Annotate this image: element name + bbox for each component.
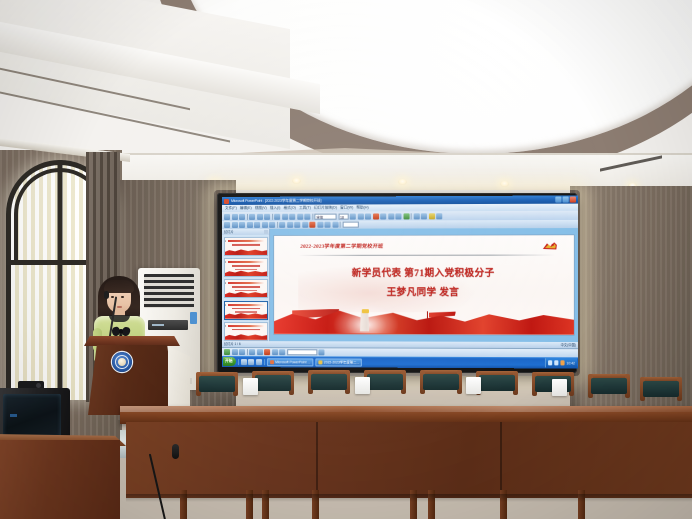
conference-chair <box>364 370 406 396</box>
thumbnail-body-line <box>232 286 260 288</box>
podium-side-panel <box>168 346 190 412</box>
chair-back <box>643 381 679 397</box>
arrow-icon[interactable] <box>247 222 253 228</box>
ie-icon[interactable] <box>248 359 254 365</box>
insert-table-icon[interactable] <box>421 213 427 219</box>
thumbnail-title-line <box>228 282 264 284</box>
name-placard <box>552 379 567 396</box>
slide-artwork <box>274 301 574 335</box>
conference-room-photo: Microsoft PowerPoint - [2022-2023学年度第二学期… <box>0 0 692 519</box>
window-title: Microsoft PowerPoint - [2022-2023学年度第二学期… <box>231 197 527 204</box>
thumbnail-list[interactable]: 1 2 <box>222 235 269 341</box>
save-icon[interactable] <box>239 213 245 219</box>
taskbar-item-folder[interactable]: 2022-2023学年度第二... <box>315 358 362 366</box>
clipart-icon[interactable] <box>302 222 308 228</box>
powerpoint-icon <box>270 360 274 364</box>
taskbar-clock: 10:42 <box>566 361 575 365</box>
font-name-box[interactable]: 宋体 <box>314 213 336 219</box>
bow-knot <box>119 329 123 334</box>
screen-surface[interactable]: Microsoft PowerPoint - [2022-2023学年度第二学期… <box>222 195 578 368</box>
align-left-icon[interactable] <box>380 213 386 219</box>
copy-icon[interactable] <box>282 213 288 219</box>
conference-chair <box>588 374 630 400</box>
transition-icon[interactable] <box>272 349 278 355</box>
powerpoint-icon <box>224 198 229 203</box>
table-shadow <box>126 494 692 502</box>
rectangle-icon[interactable] <box>254 222 260 228</box>
design-icon[interactable] <box>428 213 434 219</box>
insert-picture-icon[interactable] <box>294 222 300 228</box>
menu-item-tools[interactable]: 工具(T) <box>299 206 311 211</box>
toolbar-separator <box>247 349 248 355</box>
emblem-core <box>118 358 126 366</box>
close-icon[interactable] <box>264 230 268 234</box>
show-desktop-icon[interactable] <box>241 359 247 365</box>
ceiling-downlight <box>292 178 301 184</box>
increase-font-icon[interactable] <box>403 213 409 219</box>
thumbnail-number: 1 <box>224 239 226 243</box>
spellcheck-icon[interactable] <box>264 213 270 219</box>
thumbnail-number: 5 <box>224 324 226 328</box>
slide-title-line-2: 王梦凡同学 发言 <box>274 284 574 298</box>
ac-control-panel[interactable] <box>148 320 188 330</box>
input-method-icon[interactable] <box>560 361 565 366</box>
print-preview-icon[interactable] <box>257 213 263 219</box>
media-player-icon[interactable] <box>256 359 262 365</box>
table-sheen <box>120 406 692 412</box>
windows-taskbar[interactable]: 开始 Microsoft PowerPoint ... 2022-2023学年度… <box>222 356 578 369</box>
rehearse-icon[interactable] <box>279 349 285 355</box>
underline-icon[interactable] <box>365 213 371 219</box>
volume-icon[interactable] <box>548 361 553 366</box>
taskbar-item-label: 2022-2023学年度第二... <box>324 358 359 366</box>
select-objects-icon[interactable] <box>224 222 230 228</box>
system-tray[interactable]: 10:42 <box>545 358 577 367</box>
folder-icon <box>318 360 322 364</box>
menu-item-view[interactable]: 视图(V) <box>255 206 267 211</box>
grid-icon[interactable] <box>249 349 255 355</box>
ac-grille <box>144 274 194 308</box>
thumbnail-number: 4 <box>224 303 226 307</box>
thumbnail-title-line <box>228 261 264 263</box>
new-slide-icon[interactable] <box>436 213 442 219</box>
fill-color-icon[interactable] <box>309 222 315 228</box>
line-icon[interactable] <box>239 222 245 228</box>
shadow-icon[interactable] <box>324 222 330 228</box>
podium-front-panel <box>88 345 176 415</box>
thumbnail-title-line <box>228 240 264 242</box>
crt-indicator <box>10 414 17 417</box>
window-controls[interactable] <box>555 196 576 202</box>
thumbnail-number: 3 <box>224 281 226 285</box>
chair-back <box>423 374 459 390</box>
ceiling-downlight <box>398 179 407 185</box>
chair-back <box>311 374 347 390</box>
powerpoint-window[interactable]: Microsoft PowerPoint - [2022-2023学年度第二学期… <box>222 195 578 368</box>
slide-thumbnail-selected[interactable]: 4 <box>224 301 268 320</box>
emblem-ring <box>115 355 129 369</box>
chair-back <box>591 378 627 394</box>
menu-item-insert[interactable]: 插入(I) <box>270 206 281 211</box>
slide-thumbnail[interactable]: 2 <box>224 258 268 277</box>
new-icon[interactable] <box>224 213 230 219</box>
name-placard <box>355 377 370 394</box>
chair-back <box>255 375 291 391</box>
redo-icon[interactable] <box>304 213 310 219</box>
diagram-icon[interactable] <box>287 222 293 228</box>
school-emblem <box>112 352 132 372</box>
podium-top <box>84 336 180 346</box>
thumbnail-body-line <box>232 265 260 267</box>
menu-item-help[interactable]: 帮助(H) <box>356 205 368 210</box>
quick-launch-bar[interactable] <box>238 359 265 365</box>
print-icon[interactable] <box>249 213 255 219</box>
bullets-icon[interactable] <box>395 213 401 219</box>
menu-item-file[interactable]: 文件(F) <box>225 206 237 211</box>
conference-chair <box>640 377 682 403</box>
toolbar-separator <box>312 213 313 219</box>
toolbar-separator <box>340 222 341 228</box>
conference-table-front <box>126 422 692 498</box>
monument-torch <box>362 309 370 314</box>
wordart-icon[interactable] <box>279 222 285 228</box>
toolbar-separator <box>277 222 278 228</box>
thumbnail-body-line <box>235 269 257 271</box>
oval-icon[interactable] <box>262 222 268 228</box>
thumbnail-red-artwork <box>225 333 267 340</box>
textbox-icon[interactable] <box>269 222 275 228</box>
normal-view-icon[interactable] <box>231 349 237 355</box>
autoshapes-icon[interactable] <box>231 222 237 228</box>
line-color-icon[interactable] <box>317 222 323 228</box>
open-icon[interactable] <box>231 213 237 219</box>
thumbnail-red-artwork <box>225 248 267 255</box>
slide-thumbnail-pane[interactable]: 幻灯片 1 2 <box>222 229 270 341</box>
podium-microphone-head <box>104 291 109 299</box>
minimize-button[interactable] <box>555 197 561 203</box>
align-center-icon[interactable] <box>388 213 394 219</box>
table-panel-seam <box>500 422 502 498</box>
thumbnail-body-line <box>232 308 260 310</box>
go-icon[interactable] <box>318 349 324 355</box>
slide-thumbnail[interactable]: 1 <box>224 237 268 256</box>
thumbnail-title-line <box>228 304 264 306</box>
table-microphone-head <box>172 444 179 459</box>
close-button[interactable] <box>570 196 576 202</box>
slide-thumbnail[interactable]: 3 <box>224 279 268 298</box>
led-video-wall: Microsoft PowerPoint - [2022-2023学年度第二学期… <box>217 193 577 373</box>
menu-item-window[interactable]: 窗口(W) <box>340 205 353 210</box>
control-desk-front <box>0 440 120 519</box>
network-icon[interactable] <box>554 361 559 366</box>
red-wave-graphic <box>274 301 574 335</box>
chair-back <box>199 376 235 392</box>
podium <box>84 336 180 416</box>
ac-display-icon <box>152 324 164 326</box>
thumbnail-number: 2 <box>224 260 226 264</box>
toolbar-separator <box>272 213 273 219</box>
italic-icon[interactable] <box>357 213 363 219</box>
thumbnail-body-line <box>235 290 257 292</box>
party-emblem-icon <box>541 240 559 251</box>
three-d-icon[interactable] <box>332 222 338 228</box>
slide-header-rule <box>298 254 556 255</box>
bold-icon[interactable] <box>350 213 356 219</box>
insert-chart-icon[interactable] <box>413 213 419 219</box>
toolbar-separator <box>247 213 248 219</box>
slide-canvas-area[interactable]: 2022-2023学年度第二学期党校开班 新学员代表 第71期入党积极分子 王梦… <box>270 228 578 342</box>
current-slide[interactable]: 2022-2023学年度第二学期党校开班 新学员代表 第71期入党积极分子 王梦… <box>274 235 574 334</box>
thumbnail-body-line <box>232 244 260 246</box>
conference-chair <box>196 372 238 398</box>
paste-icon[interactable] <box>289 213 295 219</box>
slide-thumbnail[interactable]: 5 <box>224 322 268 341</box>
font-color-icon[interactable] <box>373 213 379 219</box>
thumbnail-title-line <box>228 325 264 327</box>
align-objects-icon[interactable] <box>257 349 263 355</box>
start-button[interactable]: 开始 <box>223 357 236 366</box>
taskbar-item-label: Microsoft PowerPoint ... <box>275 358 310 366</box>
chair-back <box>367 374 403 390</box>
slide-title-line-1: 新学员代表 第71期入党积极分子 <box>274 265 574 279</box>
font-size-box[interactable]: 18 <box>338 213 348 219</box>
sorter-view-icon[interactable] <box>239 349 245 355</box>
ac-brand-badge <box>190 312 197 324</box>
address-box[interactable] <box>287 349 317 355</box>
editor-body: 幻灯片 1 2 <box>222 228 578 342</box>
menu-item-format[interactable]: 格式(O) <box>283 206 295 211</box>
undo-icon[interactable] <box>297 213 303 219</box>
name-placard <box>466 377 481 394</box>
animation-icon[interactable] <box>264 349 270 355</box>
taskbar-item-powerpoint[interactable]: Microsoft PowerPoint ... <box>267 358 314 366</box>
menu-item-slideshow[interactable]: 幻灯片放映(D) <box>314 206 337 211</box>
conference-chair <box>476 371 518 397</box>
menu-item-edit[interactable]: 编辑(E) <box>240 206 252 211</box>
mouth <box>117 306 122 308</box>
conference-chair <box>308 370 350 396</box>
cut-icon[interactable] <box>274 213 280 219</box>
name-placard <box>243 378 258 395</box>
thumbnail-body-line <box>235 311 257 313</box>
ceiling-downlight <box>500 181 509 187</box>
slide-header-text: 2022-2023学年度第二学期党校开班 <box>300 243 384 250</box>
thumbnail-body-line <box>232 329 260 331</box>
chair-back <box>479 375 515 391</box>
slideshow-icon[interactable] <box>224 349 230 355</box>
zoom-box[interactable] <box>342 222 358 228</box>
conference-chair <box>252 371 294 397</box>
table-panel-seam <box>316 422 318 498</box>
toolbar-separator <box>411 213 412 219</box>
maximize-button[interactable] <box>563 197 569 203</box>
conference-chair <box>420 370 462 396</box>
